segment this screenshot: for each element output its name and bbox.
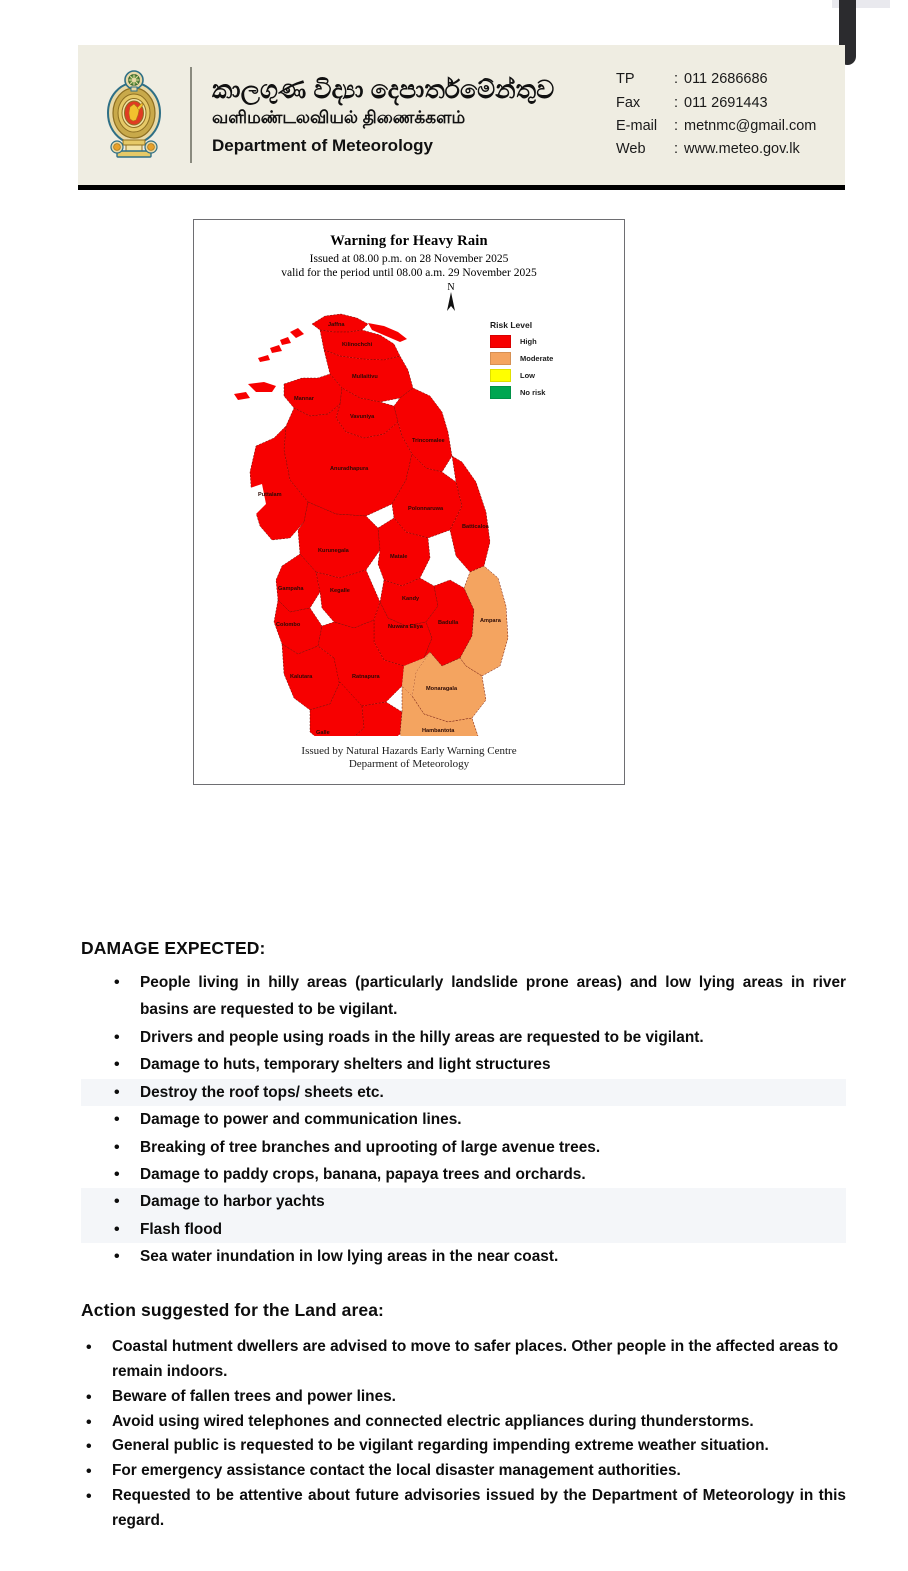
contact-row-fax: Fax : 011 2691443 [616,92,845,115]
label-vavuniya: Vavuniya [350,414,375,420]
page-scrollbar[interactable] [890,0,908,1571]
label-mullaitivu: Mullaitivu [352,374,378,380]
map-footer: Issued by Natural Hazards Early Warning … [194,745,624,773]
sri-lanka-emblem-icon [104,67,164,163]
contact-sep-tp: : [674,68,684,91]
map-issued-time: Issued at 08.00 p.m. on 28 November 2025 [194,252,624,266]
label-gampaha: Gampaha [278,586,304,592]
list-item: General public is requested to be vigila… [81,1434,846,1459]
list-item: Sea water inundation in low lying areas … [81,1243,846,1270]
damage-expected-heading: DAMAGE EXPECTED: [81,938,846,959]
department-name-english: Department of Meteorology [212,135,602,157]
district-kegalle [316,570,380,628]
list-item: Breaking of tree branches and uprooting … [81,1134,846,1161]
department-name-sinhala: කාලගුණ විද්‍යා දෙපාර්තමේන්තුව [212,74,602,106]
label-ratnapura: Ratnapura [352,674,381,680]
damage-expected-list: People living in hilly areas (particular… [81,969,846,1271]
label-kegalle: Kegalle [330,588,350,594]
list-item: Damage to paddy crops, banana, papaya tr… [81,1161,846,1188]
label-jaffna: Jaffna [328,322,345,328]
contact-sep-web: : [674,138,684,161]
label-kurunegala: Kurunegala [318,548,350,554]
map-title: Warning for Heavy Rain [194,233,624,250]
map-footer-line2: Deparment of Meteorology [194,758,624,772]
label-batticaloa: Batticaloa [462,524,490,530]
contact-sep-fax: : [674,92,684,115]
warning-map-card: Warning for Heavy Rain Issued at 08.00 p… [193,219,625,785]
contact-value-fax: 011 2691443 [684,92,845,115]
district-jaffna-islets [258,328,304,362]
label-puttalam: Puttalam [258,492,282,498]
list-item: Damage to harbor yachts [81,1188,846,1215]
contact-row-web: Web : www.meteo.gov.lk [616,138,845,161]
contact-label-tp: TP [616,68,674,91]
label-anuradhapura: Anuradhapura [330,466,369,472]
contact-row-email: E-mail : metnmc@gmail.com [616,115,845,138]
label-nuwara-eliya: Nuwara Eliya [388,624,424,630]
map-footer-line1: Issued by Natural Hazards Early Warning … [194,745,624,759]
list-item: Coastal hutment dwellers are advised to … [81,1335,846,1385]
label-kilinochchi: Kilinochchi [342,342,373,348]
letterhead-divider [190,67,192,163]
label-hambantota: Hambantota [422,728,455,734]
label-kalutara: Kalutara [290,674,313,680]
advisory-content: DAMAGE EXPECTED: People living in hilly … [81,938,846,1534]
label-colombo: Colombo [276,622,301,628]
label-trincomalee: Trincomalee [412,438,445,444]
list-item: Flash flood [81,1216,846,1243]
contact-row-tp: TP : 011 2686686 [616,68,845,91]
action-suggested-list: Coastal hutment dwellers are advised to … [81,1335,846,1535]
list-item: Avoid using wired telephones and connect… [81,1410,846,1435]
contact-label-web: Web [616,138,674,161]
contact-value-email[interactable]: metnmc@gmail.com [684,115,845,138]
contact-value-web[interactable]: www.meteo.gov.lk [684,138,845,161]
list-item: Damage to huts, temporary shelters and l… [81,1051,846,1078]
district-mannar-islands [234,382,276,400]
action-suggested-heading: Action suggested for the Land area: [81,1300,846,1321]
list-item: For emergency assistance contact the loc… [81,1459,846,1484]
label-mannar: Mannar [294,396,315,402]
label-badulla: Badulla [438,620,459,626]
list-item: Beware of fallen trees and power lines. [81,1385,846,1410]
contact-value-tp: 011 2686686 [684,68,845,91]
label-matale: Matale [390,554,407,560]
department-name-tamil: வளிமண்டலவியல் திணைக்களம் [212,107,602,129]
letterhead: කාලගුණ විද්‍යා දෙපාර්තමේන්තුව வளிமண்டலவி… [78,45,845,190]
emblem-container [78,67,190,163]
contact-label-fax: Fax [616,92,674,115]
sri-lanka-risk-map: Jaffna Kilinochchi Mullaitivu Mannar Vav… [194,266,626,736]
contact-details: TP : 011 2686686 Fax : 011 2691443 E-mai… [602,68,845,162]
department-names: කාලගුණ විද්‍යා දෙපාර්තමේන්තුව வளிமண்டலவி… [212,74,602,157]
list-item: Drivers and people using roads in the hi… [81,1024,846,1051]
contact-label-email: E-mail [616,115,674,138]
list-item: Requested to be attentive about future a… [81,1484,846,1534]
label-ampara: Ampara [480,618,502,624]
label-polonnaruwa: Polonnaruwa [408,506,444,512]
list-item: Destroy the roof tops/ sheets etc. [81,1079,846,1106]
contact-sep-email: : [674,115,684,138]
label-kandy: Kandy [402,596,420,602]
list-item: People living in hilly areas (particular… [81,969,846,1024]
label-monaragala: Monaragala [426,686,458,692]
list-item: Damage to power and communication lines. [81,1106,846,1133]
label-galle: Galle [316,730,330,736]
